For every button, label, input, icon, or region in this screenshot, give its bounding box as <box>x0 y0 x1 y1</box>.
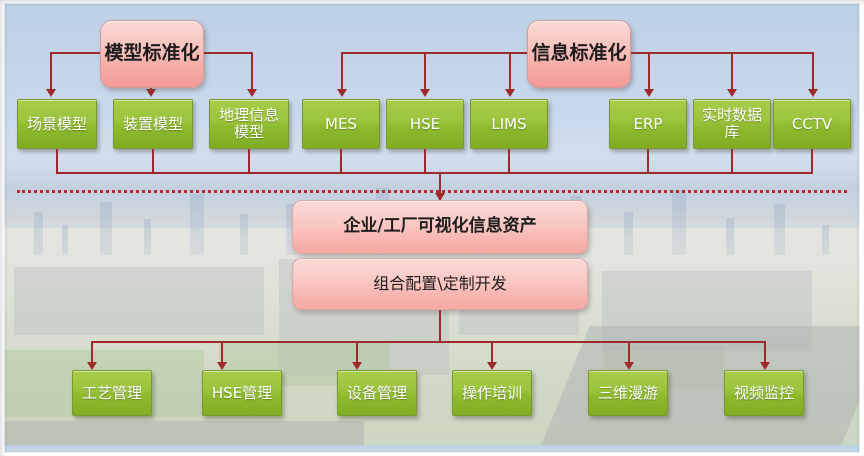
arrow-process-management <box>87 362 97 370</box>
node-model-standardization-label: 模型标准化 <box>104 43 199 64</box>
arrow-3d-roaming <box>624 362 634 370</box>
arrow-info-mes <box>337 89 347 97</box>
arrow-hse-management <box>217 362 227 370</box>
node-operation-training-label: 操作培训 <box>460 385 524 402</box>
riser-device-model <box>152 149 154 173</box>
node-erp-label: ERP <box>632 116 665 133</box>
node-realtime-db[interactable]: 实时数据库 <box>693 99 771 149</box>
node-erp[interactable]: ERP <box>609 99 687 149</box>
arrow-operation-training <box>487 362 497 370</box>
node-process-management[interactable]: 工艺管理 <box>72 370 152 416</box>
node-composition-customization-label: 组合配置\定制开发 <box>373 275 506 293</box>
diagram-canvas: 模型标准化 场景模型 装置模型 地理信息模型 信息标准化 MES HSE LIM… <box>0 0 864 456</box>
arrow-model-1 <box>46 89 56 97</box>
arrow-info-lims <box>505 89 515 97</box>
node-realtime-db-label: 实时数据库 <box>694 107 770 141</box>
node-device-model[interactable]: 装置模型 <box>113 99 193 149</box>
connector-info-bus-right <box>626 52 813 54</box>
riser-hse <box>424 149 426 173</box>
drop-operation-training <box>491 341 493 363</box>
node-information-standardization[interactable]: 信息标准化 <box>527 20 631 88</box>
riser-realtime-db <box>731 149 733 173</box>
layer-divider <box>17 190 847 193</box>
node-lims-label: LIMS <box>489 116 528 133</box>
node-hse-management-label: HSE管理 <box>210 385 274 402</box>
connector-info-drop-erp <box>648 52 650 90</box>
node-gis-model[interactable]: 地理信息模型 <box>209 99 289 149</box>
node-mes[interactable]: MES <box>302 99 380 149</box>
riser-mes <box>340 149 342 173</box>
node-information-standardization-label: 信息标准化 <box>531 43 626 64</box>
riser-erp <box>647 149 649 173</box>
drop-3d-roaming <box>628 341 630 363</box>
node-model-standardization[interactable]: 模型标准化 <box>100 20 204 88</box>
connector-info-drop-cctv <box>812 52 814 90</box>
riser-lims <box>508 149 510 173</box>
connector-info-drop-rtdb <box>731 52 733 90</box>
node-video-surveillance[interactable]: 视频监控 <box>724 370 804 416</box>
connector-info-drop-mes <box>341 52 343 90</box>
node-scene-model[interactable]: 场景模型 <box>17 99 97 149</box>
background-bottom-strip <box>4 445 860 453</box>
connector-model-drop-3 <box>251 52 253 90</box>
arrow-info-erp <box>644 89 654 97</box>
drop-process-management <box>91 341 93 363</box>
arrow-info-cctv <box>808 89 818 97</box>
drop-video-surveillance <box>764 341 766 363</box>
node-hse-management[interactable]: HSE管理 <box>202 370 282 416</box>
riser-gis-model <box>248 149 250 173</box>
node-3d-roaming[interactable]: 三维漫游 <box>588 370 668 416</box>
node-gis-model-label: 地理信息模型 <box>210 107 288 141</box>
arrow-info-hse <box>420 89 430 97</box>
node-visual-info-asset[interactable]: 企业/工厂可视化信息资产 <box>292 200 588 254</box>
node-composition-customization[interactable]: 组合配置\定制开发 <box>292 258 588 310</box>
node-hse-label: HSE <box>408 116 442 133</box>
node-video-surveillance-label: 视频监控 <box>732 385 796 402</box>
connector-info-bus-left <box>341 52 531 54</box>
node-process-management-label: 工艺管理 <box>80 385 144 402</box>
application-bus <box>91 341 765 343</box>
node-scene-model-label: 场景模型 <box>25 116 89 133</box>
node-equipment-management-label: 设备管理 <box>345 385 409 402</box>
node-device-model-label: 装置模型 <box>121 116 185 133</box>
riser-cctv <box>811 149 813 173</box>
arrow-video-surveillance <box>760 362 770 370</box>
riser-scene-model <box>56 149 58 173</box>
drop-equipment-management <box>356 341 358 363</box>
node-cctv-label: CCTV <box>790 116 834 133</box>
collector-bar <box>56 172 813 174</box>
arrow-model-2 <box>146 89 156 97</box>
drop-hse-management <box>221 341 223 363</box>
node-visual-info-asset-label: 企业/工厂可视化信息资产 <box>343 217 536 236</box>
node-3d-roaming-label: 三维漫游 <box>596 385 660 402</box>
platform-out-stem <box>439 310 441 342</box>
arrow-info-rtdb <box>727 89 737 97</box>
node-mes-label: MES <box>323 116 359 133</box>
connector-model-drop-1 <box>50 52 52 90</box>
arrow-equipment-management <box>352 362 362 370</box>
node-lims[interactable]: LIMS <box>470 99 548 149</box>
connector-info-drop-hse <box>424 52 426 90</box>
connector-info-drop-lims <box>509 52 511 90</box>
node-cctv[interactable]: CCTV <box>773 99 851 149</box>
node-hse[interactable]: HSE <box>386 99 464 149</box>
arrow-model-3 <box>247 89 257 97</box>
node-equipment-management[interactable]: 设备管理 <box>337 370 417 416</box>
node-operation-training[interactable]: 操作培训 <box>452 370 532 416</box>
